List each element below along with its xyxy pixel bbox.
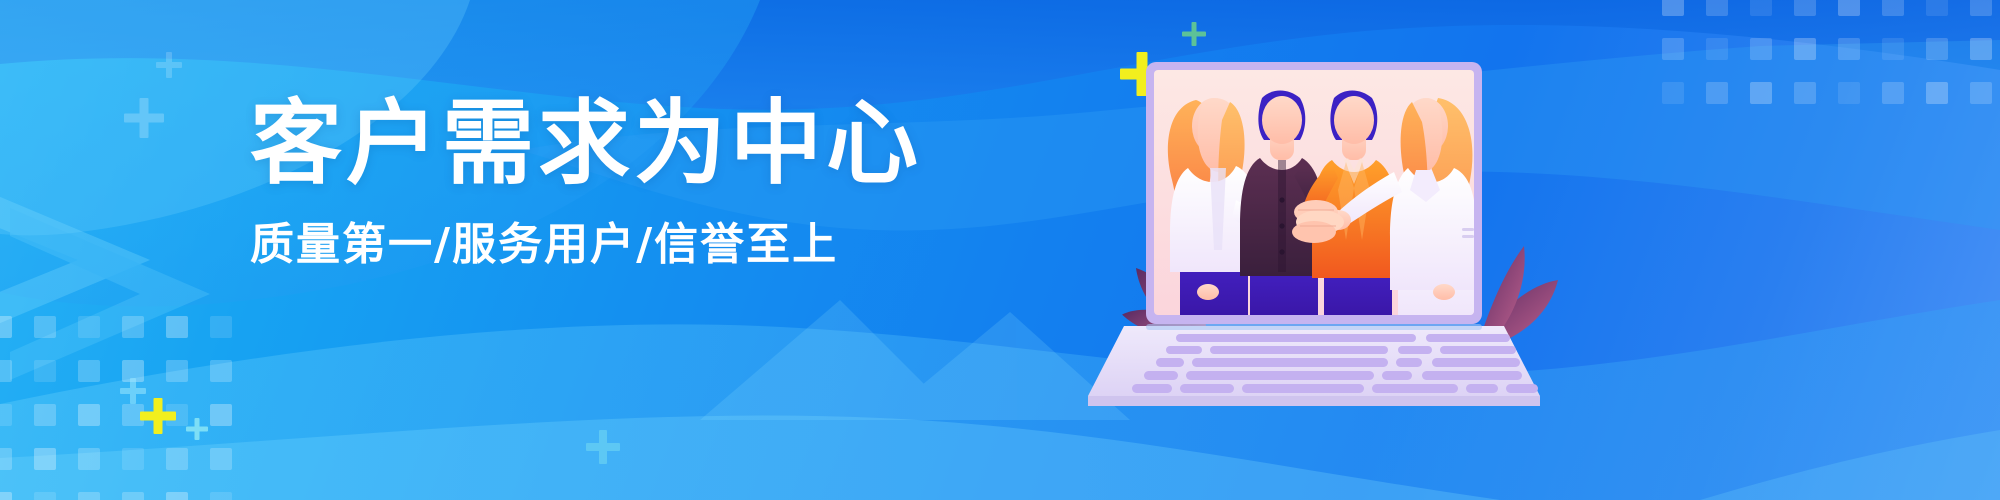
plus-icon-white-a	[124, 98, 164, 138]
plus-icon-cyan-c	[586, 430, 620, 464]
laptop-team-illustration	[1110, 40, 1580, 460]
promo-banner: 客户需求为中心 质量第一/服务用户/信誉至上	[0, 0, 2000, 500]
plus-icon-white-b	[156, 52, 182, 78]
banner-headline: 客户需求为中心	[250, 96, 890, 193]
laptop-keyboard	[1088, 324, 1540, 406]
banner-subheadline: 质量第一/服务用户/信誉至上	[250, 219, 890, 272]
square-grid-top-right	[1662, 0, 1992, 104]
banner-copy: 客户需求为中心 质量第一/服务用户/信誉至上	[250, 96, 890, 271]
square-grid-bottom-left	[0, 316, 232, 500]
plus-icon-cyan-b	[120, 378, 146, 404]
plus-icon-cyan-a	[186, 418, 208, 440]
